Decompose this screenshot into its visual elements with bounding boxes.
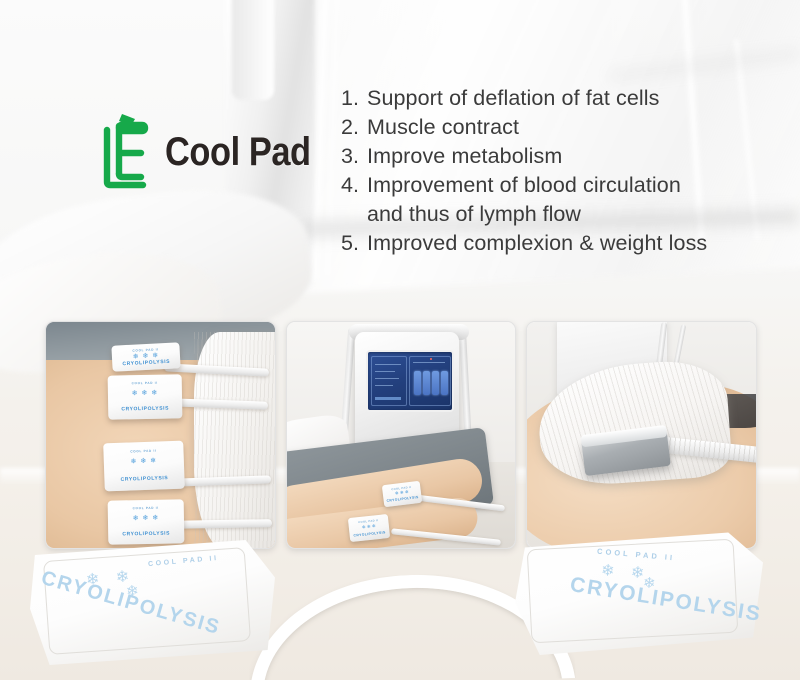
benefit-text: Support of deflation of fat cells [367, 84, 761, 113]
pad-label-main: CRYOLIPOLYSIS [108, 530, 184, 537]
photo1-cool-pad-4: COOL PAD II ❄ ❄ ❄ CRYOLIPOLYSIS [108, 499, 185, 544]
benefit-item-2: 2. Muscle contract [341, 113, 761, 142]
pad-label-main: CRYOLIPOLYSIS [349, 530, 389, 538]
benefit-number: 2. [341, 113, 367, 142]
photo1-towel [194, 332, 275, 548]
photo-abdomen-treatment[interactable]: COOL PAD II ❄ ❄ ❄ CRYOLIPOLYSIS COOL PAD… [45, 321, 276, 549]
benefit-item-3: 3. Improve metabolism [341, 142, 761, 171]
screen-channel-3 [432, 371, 439, 395]
benefit-item-4: 4. Improvement of blood circulation [341, 171, 761, 200]
photo-hip-treatment[interactable] [526, 321, 757, 549]
foreground-pad-left: COOL PAD II ❄ ❄ ❄ CRYOLIPOLYSIS [30, 540, 275, 665]
benefit-item-1: 1. Support of deflation of fat cells [341, 84, 761, 113]
screen-panel-left [371, 356, 407, 406]
screen-panel-right [409, 356, 451, 406]
benefit-text: Improvement of blood circulation [367, 171, 761, 200]
screen-channel-2 [423, 371, 430, 395]
pad-label-top: COOL PAD II [103, 447, 183, 454]
benefit-number: 3. [341, 142, 367, 171]
photo2-machine-screen[interactable] [366, 350, 454, 412]
pad-snowflakes: ❄ ❄ ❄ [108, 514, 184, 522]
photo1-cool-pad-2: COOL PAD II ❄ ❄ ❄ CRYOLIPOLYSIS [108, 374, 183, 419]
pad-label-main: CRYOLIPOLYSIS [108, 405, 182, 412]
pad-label-top: COOL PAD II [108, 505, 184, 510]
photo-gallery: COOL PAD II ❄ ❄ ❄ CRYOLIPOLYSIS COOL PAD… [45, 321, 757, 549]
benefit-text: Muscle contract [367, 113, 761, 142]
foreground-pad-right: COOL PAD II ❄ ❄ ❄ CRYOLIPOLYSIS [515, 530, 763, 655]
benefit-item-4-continuation: and thus of lymph flow [341, 200, 761, 229]
benefits-list: 1. Support of deflation of fat cells 2. … [341, 84, 761, 258]
promo-image: Cool Pad 1. Support of deflation of fat … [0, 0, 800, 680]
benefit-item-5: 5. Improved complexion & weight loss [341, 229, 761, 258]
screen-channel-4 [441, 371, 448, 395]
photo2-cool-pad-1: COOL PAD II ❄ ❄ ❄ CRYOLIPOLYSIS [381, 481, 421, 507]
pad-label-top: COOL PAD II [108, 381, 182, 386]
background-machine-head [232, 0, 274, 100]
brand-wordmark: Cool Pad [165, 130, 311, 175]
pad-snowflakes: ❄ ❄ ❄ [108, 389, 182, 397]
logo-e-icon [95, 112, 151, 192]
benefit-text: Improve metabolism [367, 142, 761, 171]
photo-machine-and-legs[interactable]: COOL PAD II ❄ ❄ ❄ CRYOLIPOLYSIS COOL PAD… [286, 321, 517, 549]
benefit-number: 5. [341, 229, 367, 258]
photo1-cool-pad-1: COOL PAD II ❄ ❄ ❄ CRYOLIPOLYSIS [111, 342, 180, 372]
benefit-number: 4. [341, 171, 367, 200]
brand-logo: Cool Pad [95, 112, 334, 192]
benefit-text: Improved complexion & weight loss [367, 229, 761, 258]
photo1-cool-pad-3: COOL PAD II ❄ ❄ ❄ CRYOLIPOLYSIS [103, 441, 185, 492]
pad-snowflakes: ❄ ❄ ❄ [104, 457, 184, 467]
pad-label-main: CRYOLIPOLYSIS [104, 474, 184, 483]
benefit-number: 1. [341, 84, 367, 113]
screen-channel-1 [414, 371, 421, 395]
photo2-cool-pad-2: COOL PAD II ❄ ❄ ❄ CRYOLIPOLYSIS [348, 514, 390, 542]
